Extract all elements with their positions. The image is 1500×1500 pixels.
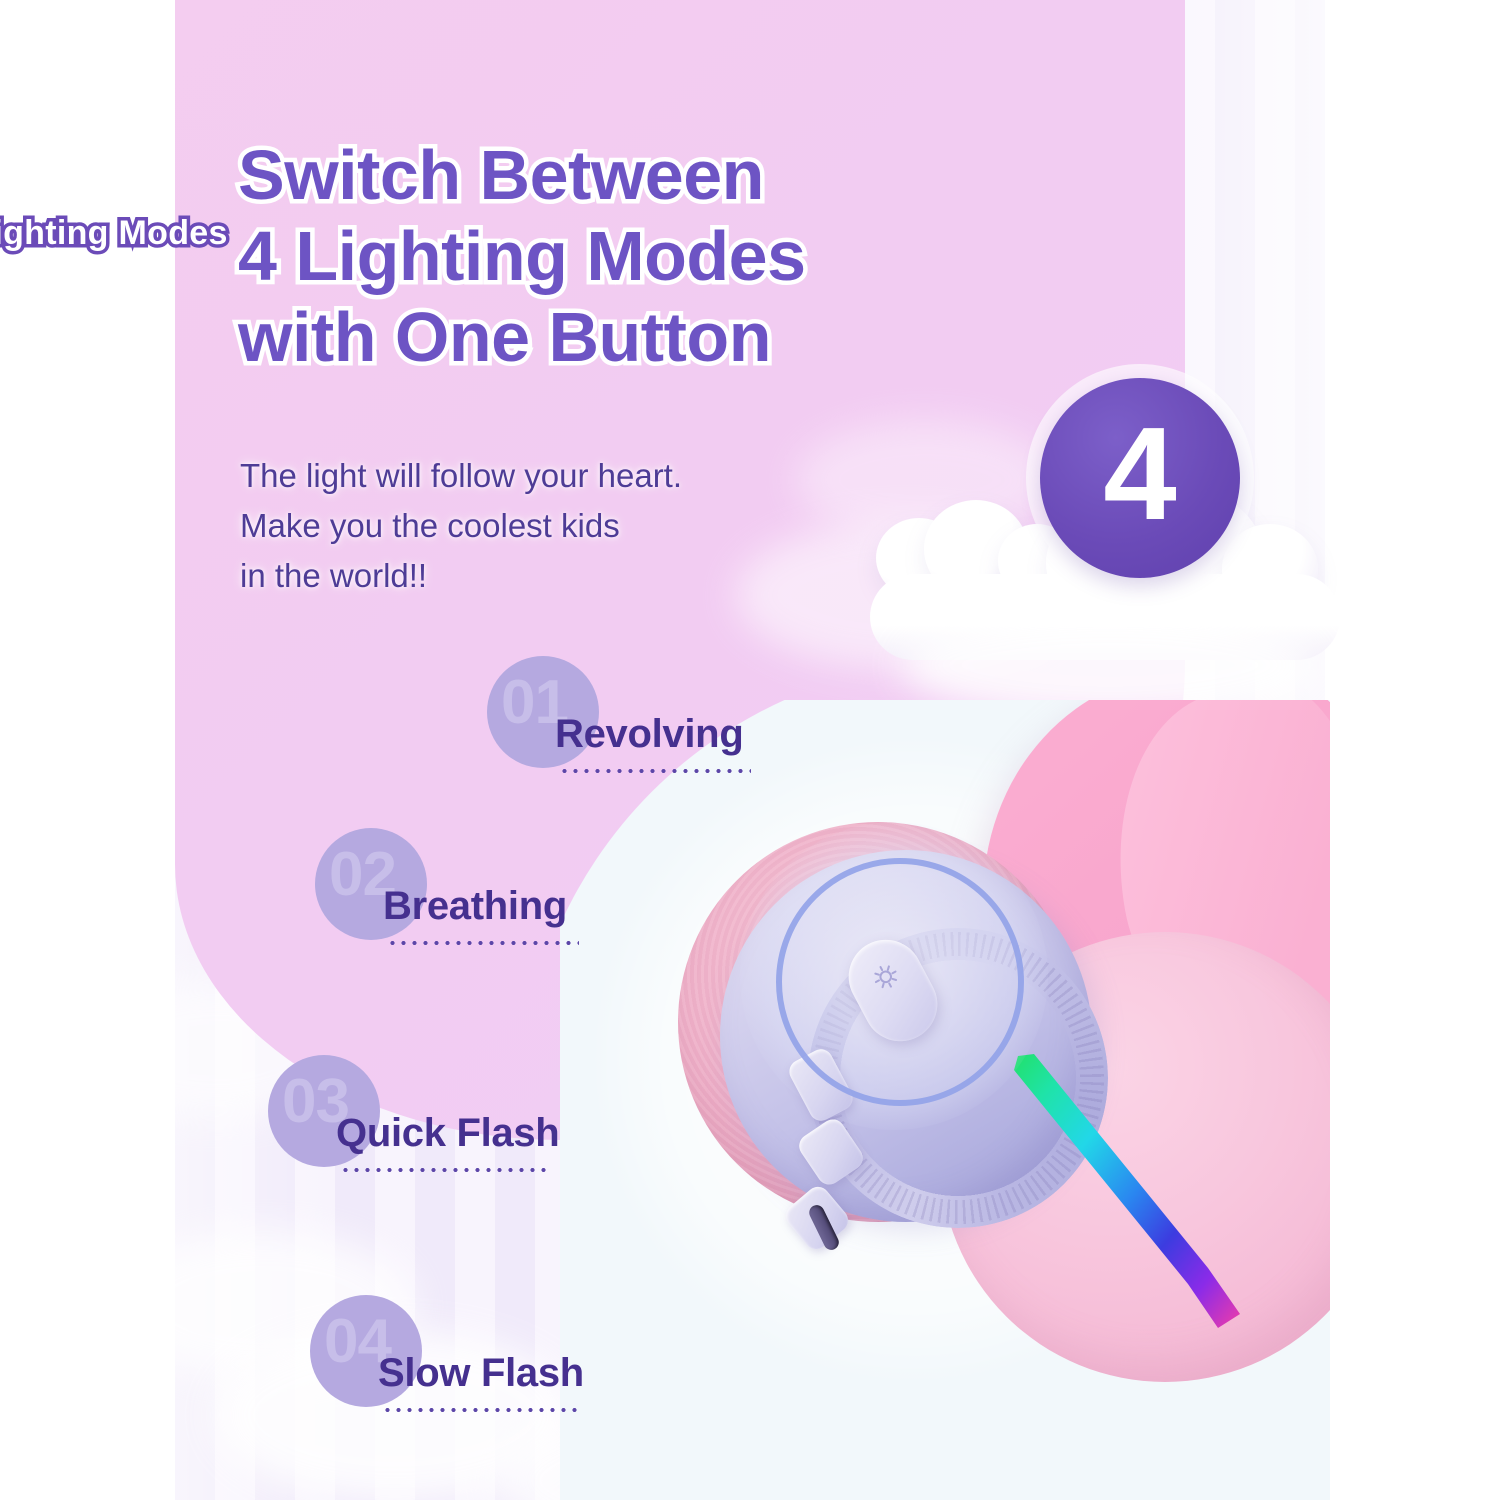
mode-dotted-underline xyxy=(340,1167,548,1173)
rgb-light-strip xyxy=(1012,1052,1330,1352)
subtitle-line: Make you the coolest kids xyxy=(240,501,880,551)
mode-label: Quick Flash xyxy=(336,1111,559,1156)
subtitle-line: in the world!! xyxy=(240,551,880,601)
badge-number: 4 xyxy=(1103,408,1176,540)
mode-dotted-underline xyxy=(559,768,751,774)
page-title: Switch Between 4 Lighting Modes with One… xyxy=(238,135,1028,379)
lighting-modes-badge: 4 xyxy=(1040,378,1240,638)
mode-label: Slow Flash xyxy=(378,1351,584,1396)
headline-line: Switch Between xyxy=(238,135,1028,216)
headline-line: 4 Lighting Modes xyxy=(238,216,1028,297)
badge-label: Lighting Modes xyxy=(0,214,260,253)
mode-dotted-underline xyxy=(387,940,579,946)
headline-line: with One Button xyxy=(238,297,1028,378)
headphones-product-image xyxy=(560,700,1330,1500)
subtitle-line: The light will follow your heart. xyxy=(240,451,880,501)
badge-circle: 4 xyxy=(1040,378,1240,578)
mode-label: Breathing xyxy=(383,884,567,929)
mode-label: Revolving xyxy=(555,712,743,757)
subtitle: The light will follow your heart. Make y… xyxy=(240,451,880,601)
button-highlight-ring xyxy=(776,858,1024,1106)
product-feature-page: Switch Between 4 Lighting Modes with One… xyxy=(0,0,1500,1500)
mode-dotted-underline xyxy=(382,1407,580,1413)
